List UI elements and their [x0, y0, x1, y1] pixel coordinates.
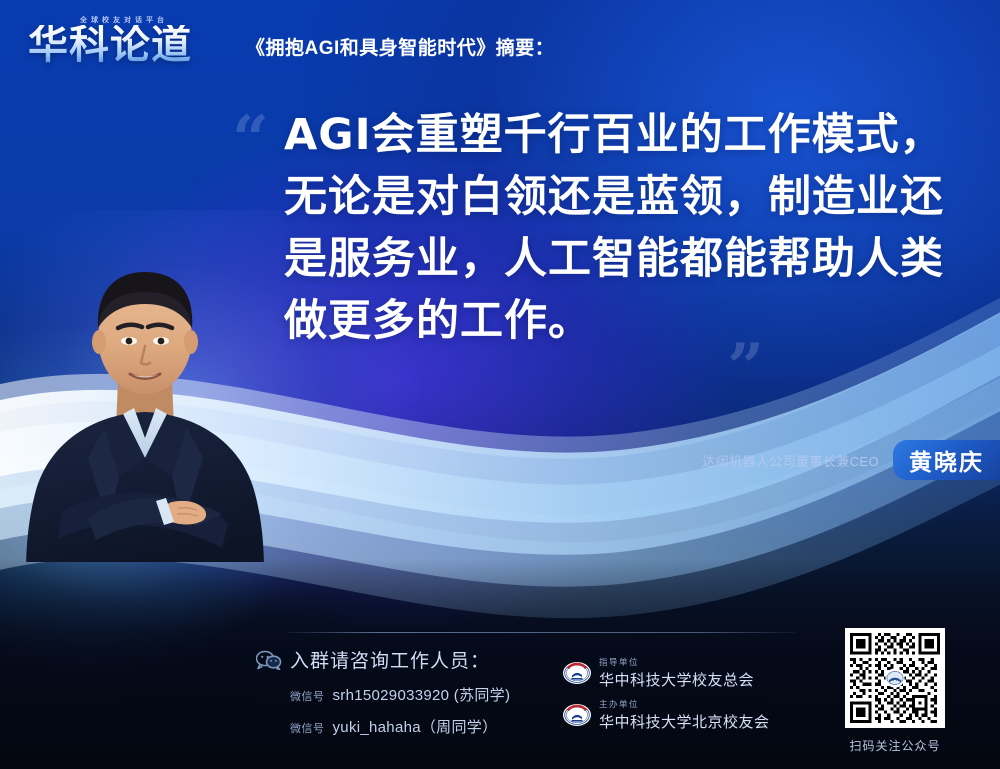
- wechat-title: 入群请咨询工作人员：: [290, 646, 490, 673]
- qr-code[interactable]: [845, 628, 945, 728]
- logo-wordmark: 华科论道: [28, 25, 192, 65]
- qr-caption: 扫码关注公众号: [836, 737, 954, 754]
- wechat-id: srh15029033920 (苏同学): [333, 684, 511, 705]
- speaker-name: 黄晓庆: [909, 443, 984, 477]
- organizations-block: 指导单位 华中科技大学校友总会 主办单位 华中科技大学北京校友会: [562, 656, 770, 740]
- wechat-contact-row[interactable]: 微信号 yuki_hahaha（周同学）: [256, 716, 510, 737]
- header: 全球校友对话平台 华科论道 《拥抱AGI和具身智能时代》摘要：: [0, 0, 1000, 92]
- poster-root: 全球校友对话平台 华科论道 《拥抱AGI和具身智能时代》摘要：: [0, 0, 1000, 769]
- hust-seal-icon: [562, 700, 592, 730]
- page-title: 《拥抱AGI和具身智能时代》摘要：: [246, 33, 554, 60]
- wechat-contact-block: 入群请咨询工作人员： 微信号 srh15029033920 (苏同学) 微信号 …: [256, 646, 510, 737]
- quote-block: “ AGI会重塑千行百业的工作模式，无论是对白领还是蓝领，制造业还是服务业，人工…: [232, 104, 944, 352]
- quote-open-icon: “: [232, 108, 269, 172]
- wechat-icon: [256, 650, 282, 670]
- speaker-role: 达闼机器人公司董事长兼CEO: [702, 451, 879, 470]
- wechat-header: 入群请咨询工作人员：: [256, 646, 510, 673]
- quote-close-icon: ”: [727, 336, 764, 400]
- wechat-label: 微信号: [290, 688, 325, 704]
- organization-row: 指导单位 华中科技大学校友总会: [562, 656, 770, 690]
- quote-text: AGI会重塑千行百业的工作模式，无论是对白领还是蓝领，制造业还是服务业，人工智能…: [284, 104, 944, 352]
- speaker-name-badge: 黄晓庆: [893, 440, 1000, 480]
- attribution: 达闼机器人公司董事长兼CEO 黄晓庆: [702, 440, 1000, 480]
- organization-name: 华中科技大学校友总会: [599, 669, 754, 690]
- hust-seal-icon: [562, 658, 592, 688]
- qr-block: 扫码关注公众号: [836, 628, 954, 754]
- wechat-label: 微信号: [290, 720, 325, 736]
- footer: 入群请咨询工作人员： 微信号 srh15029033920 (苏同学) 微信号 …: [0, 640, 1000, 769]
- footer-divider: [286, 632, 796, 633]
- organization-row: 主办单位 华中科技大学北京校友会: [562, 698, 770, 732]
- organization-text: 指导单位 华中科技大学校友总会: [599, 656, 754, 690]
- qr-code-icon: [850, 633, 940, 723]
- wechat-contact-row[interactable]: 微信号 srh15029033920 (苏同学): [256, 684, 510, 705]
- organization-name: 华中科技大学北京校友会: [599, 711, 770, 732]
- organization-text: 主办单位 华中科技大学北京校友会: [599, 698, 770, 732]
- brand-logo[interactable]: 全球校友对话平台 华科论道: [28, 15, 224, 77]
- organization-kind: 主办单位: [599, 698, 770, 710]
- wechat-id: yuki_hahaha（周同学）: [333, 716, 498, 737]
- organization-kind: 指导单位: [599, 656, 754, 668]
